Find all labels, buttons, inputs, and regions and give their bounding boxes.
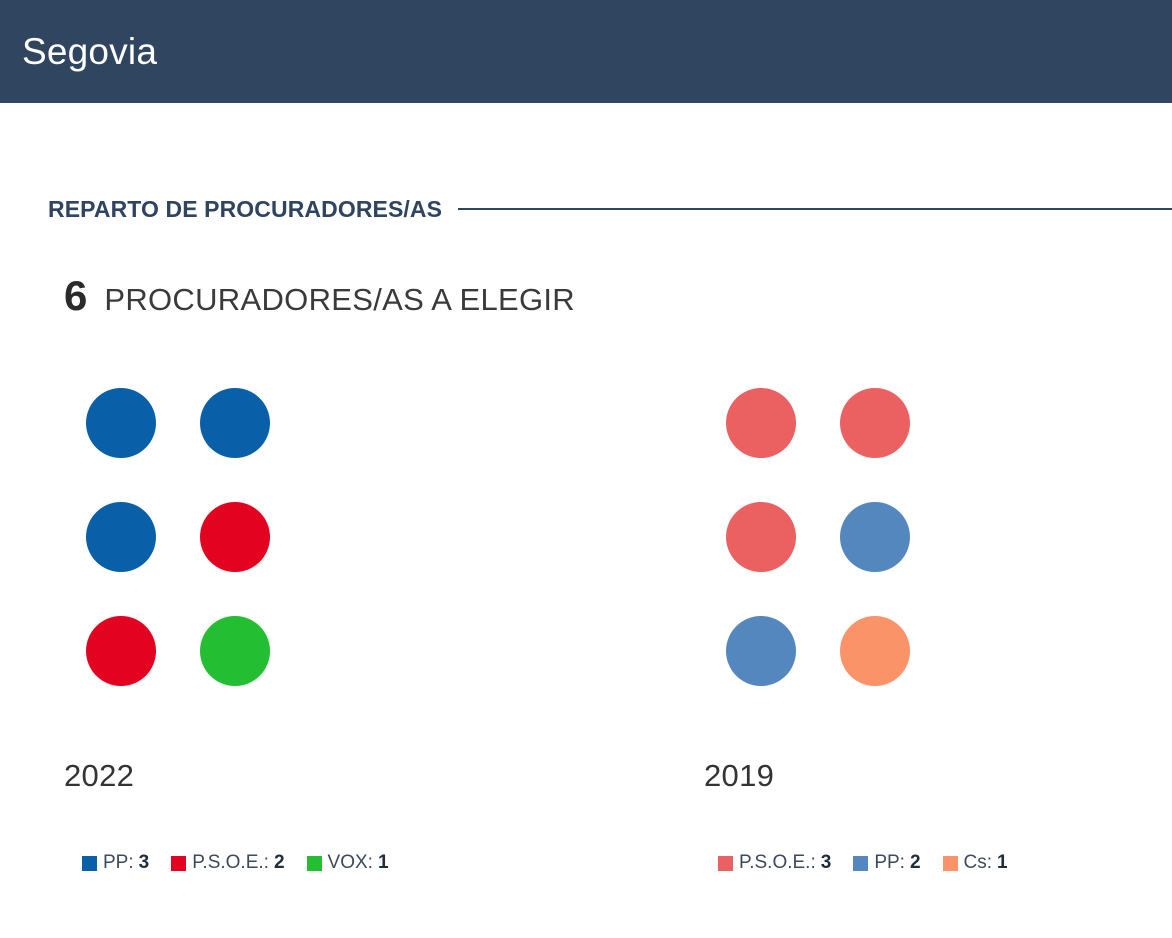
legend-swatch	[853, 856, 868, 871]
seat-group-2019	[726, 388, 911, 686]
seat-dot	[726, 616, 796, 686]
seat-dot	[726, 502, 796, 572]
legend-party-label: VOX:	[328, 852, 373, 874]
legend-swatch	[943, 856, 958, 871]
seat-dot	[86, 388, 156, 458]
legend-party-label: Cs:	[964, 852, 993, 874]
legend-item: PP: 3	[82, 852, 149, 874]
legend-2019: P.S.O.E.: 3 PP: 2 Cs: 1	[718, 852, 1008, 874]
seat-grid-2019	[726, 388, 911, 686]
legend-seat-count: 3	[821, 852, 832, 874]
seat-dot	[840, 616, 910, 686]
legend-swatch	[307, 856, 322, 871]
seat-dot	[200, 616, 270, 686]
legend-item: PP: 2	[853, 852, 920, 874]
seat-grid-2022	[86, 388, 271, 686]
seat-dot	[726, 388, 796, 458]
legend-seat-count: 2	[910, 852, 921, 874]
legend-seat-count: 2	[274, 852, 285, 874]
seat-dot	[840, 388, 910, 458]
year-label-2022: 2022	[64, 758, 134, 794]
legend-item: VOX: 1	[307, 852, 389, 874]
legend-seat-count: 1	[378, 852, 389, 874]
seat-dot	[86, 616, 156, 686]
legend-item: Cs: 1	[943, 852, 1008, 874]
year-label-2019: 2019	[704, 758, 774, 794]
legend-party-label: PP:	[874, 852, 905, 874]
seat-dot	[840, 502, 910, 572]
seat-dot	[200, 388, 270, 458]
legend-party-label: P.S.O.E.:	[739, 852, 816, 874]
legend-party-label: P.S.O.E.:	[192, 852, 269, 874]
legend-2022: PP: 3 P.S.O.E.: 2 VOX: 1	[82, 852, 389, 874]
seat-group-2022	[86, 388, 271, 686]
legend-swatch	[171, 856, 186, 871]
legend-swatch	[718, 856, 733, 871]
legend-swatch	[82, 856, 97, 871]
seat-dot	[86, 502, 156, 572]
legend-seat-count: 1	[997, 852, 1008, 874]
legend-seat-count: 3	[139, 852, 150, 874]
legend-party-label: PP:	[103, 852, 134, 874]
legend-item: P.S.O.E.: 2	[171, 852, 284, 874]
seat-dot	[200, 502, 270, 572]
legend-item: P.S.O.E.: 3	[718, 852, 831, 874]
seat-distribution-chart: 2022 PP: 3 P.S.O.E.: 2 VOX: 1 2019	[0, 0, 1172, 938]
